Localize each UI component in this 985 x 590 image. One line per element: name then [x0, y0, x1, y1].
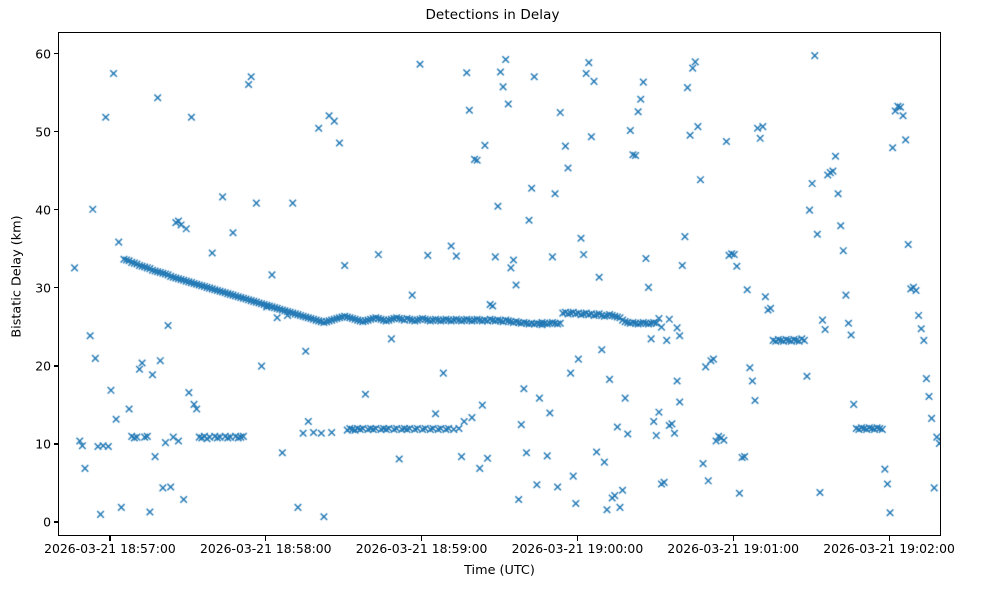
y-tick-mark	[54, 521, 59, 522]
x-tick-label: 2026-03-21 18:59:00	[356, 541, 488, 556]
y-tick-label: 0	[7, 514, 51, 529]
x-tick-label: 2026-03-21 19:02:00	[823, 541, 955, 556]
x-tick-mark	[577, 536, 578, 541]
y-tick-mark	[54, 131, 59, 132]
x-tick-label: 2026-03-21 18:57:00	[44, 541, 176, 556]
x-tick-mark	[109, 536, 110, 541]
y-tick-mark	[54, 209, 59, 210]
y-tick-mark	[54, 365, 59, 366]
y-tick-label: 20	[7, 358, 51, 373]
x-tick-label: 2026-03-21 19:01:00	[667, 541, 799, 556]
y-tick-label: 50	[7, 124, 51, 139]
y-axis-tick-labels: 0102030405060	[0, 0, 51, 590]
x-tick-mark	[889, 536, 890, 541]
y-tick-label: 10	[7, 436, 51, 451]
x-tick-mark	[733, 536, 734, 541]
y-tick-label: 30	[7, 280, 51, 295]
x-tick-label: 2026-03-21 18:58:00	[200, 541, 332, 556]
y-tick-label: 40	[7, 202, 51, 217]
x-tick-mark	[421, 536, 422, 541]
chart-title: Detections in Delay	[0, 7, 985, 23]
y-tick-label: 60	[7, 46, 51, 61]
y-tick-mark	[54, 53, 59, 54]
y-tick-mark	[54, 443, 59, 444]
y-tick-mark	[54, 287, 59, 288]
scatter-markers	[59, 33, 941, 536]
x-axis-label: Time (UTC)	[58, 563, 941, 578]
figure-canvas: Detections in Delay Bistatic Delay (km) …	[0, 0, 985, 590]
x-tick-mark	[265, 536, 266, 541]
plot-area	[58, 32, 941, 536]
x-tick-label: 2026-03-21 19:00:00	[512, 541, 644, 556]
